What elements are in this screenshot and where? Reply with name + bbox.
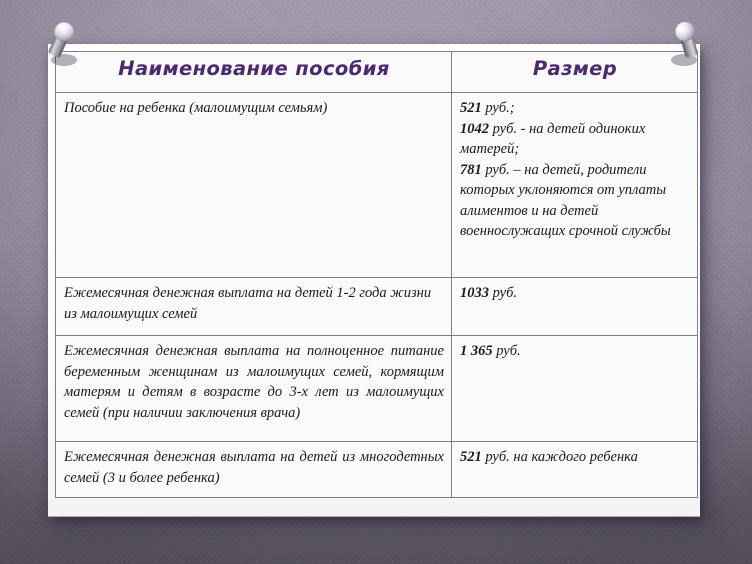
table-row: Пособие на ребенка (малоимущим семьям) 5… [56,93,698,278]
pushpin-body [673,20,701,59]
column-header-name-label: Наименование пособия [118,57,389,80]
benefit-name-text: Пособие на ребенка (малоимущим семьям) [64,98,444,119]
benefit-amount-suffix: руб. [493,343,521,359]
benefit-amount: 521 [460,100,482,116]
benefit-value-text: 521 руб. на каждого ребенка [460,447,690,468]
benefit-amount: 781 [460,162,482,178]
table-header-row: Наименование пособия Размер [56,52,698,93]
benefit-value-cell: 1033 руб. [452,278,698,336]
benefit-value-line: 1042 руб. - на детей одиноких матерей; [460,119,690,160]
benefit-value-line: 1 365 руб. [460,341,690,362]
benefit-value-line: 521 руб. на каждого ребенка [460,447,690,468]
benefit-value-line: 521 руб.; [460,98,690,119]
benefit-value-cell: 521 руб. на каждого ребенка [452,442,698,498]
benefit-amount-suffix: руб.; [482,100,515,116]
benefit-name-cell: Пособие на ребенка (малоимущим семьям) [56,93,452,278]
benefit-name-text: Ежемесячная денежная выплата на полноцен… [64,341,444,423]
column-header-value: Размер [452,52,698,93]
benefit-amount-suffix: руб. на каждого ребенка [482,449,638,465]
table-row: Ежемесячная денежная выплата на детей из… [56,442,698,498]
benefit-value-text: 521 руб.; 1042 руб. - на детей одиноких … [460,98,690,242]
benefit-name-cell: Ежемесячная денежная выплата на полноцен… [56,336,452,442]
benefit-value-cell: 521 руб.; 1042 руб. - на детей одиноких … [452,93,698,278]
benefit-name-text: Ежемесячная денежная выплата на детей 1-… [64,283,444,324]
table-row: Ежемесячная денежная выплата на полноцен… [56,336,698,442]
column-header-value-label: Размер [533,57,617,80]
benefit-amount-suffix: руб. – на детей, родители которых уклоня… [460,162,671,240]
benefit-value-line: 781 руб. – на детей, родители которых ук… [460,160,690,242]
benefit-amount: 1042 [460,121,489,137]
content-card: Наименование пособия Размер Пособие на р… [48,44,700,516]
benefits-table: Наименование пособия Размер Пособие на р… [55,51,698,498]
benefit-name-cell: Ежемесячная денежная выплата на детей из… [56,442,452,498]
benefit-name-text: Ежемесячная денежная выплата на детей из… [64,447,444,488]
benefit-amount: 1033 [460,285,489,301]
column-header-name: Наименование пособия [56,52,452,93]
benefit-amount: 521 [460,449,482,465]
pushpin-body [45,20,77,60]
benefit-amount-suffix: руб. [489,285,517,301]
benefit-value-line: 1033 руб. [460,283,690,304]
benefit-amount: 1 365 [460,343,493,359]
benefit-value-text: 1033 руб. [460,283,690,304]
benefit-value-cell: 1 365 руб. [452,336,698,442]
pushpin-icon [664,20,710,68]
table-row: Ежемесячная денежная выплата на детей 1-… [56,278,698,336]
pushpin-icon [38,20,84,68]
benefit-name-cell: Ежемесячная денежная выплата на детей 1-… [56,278,452,336]
benefit-value-text: 1 365 руб. [460,341,690,362]
